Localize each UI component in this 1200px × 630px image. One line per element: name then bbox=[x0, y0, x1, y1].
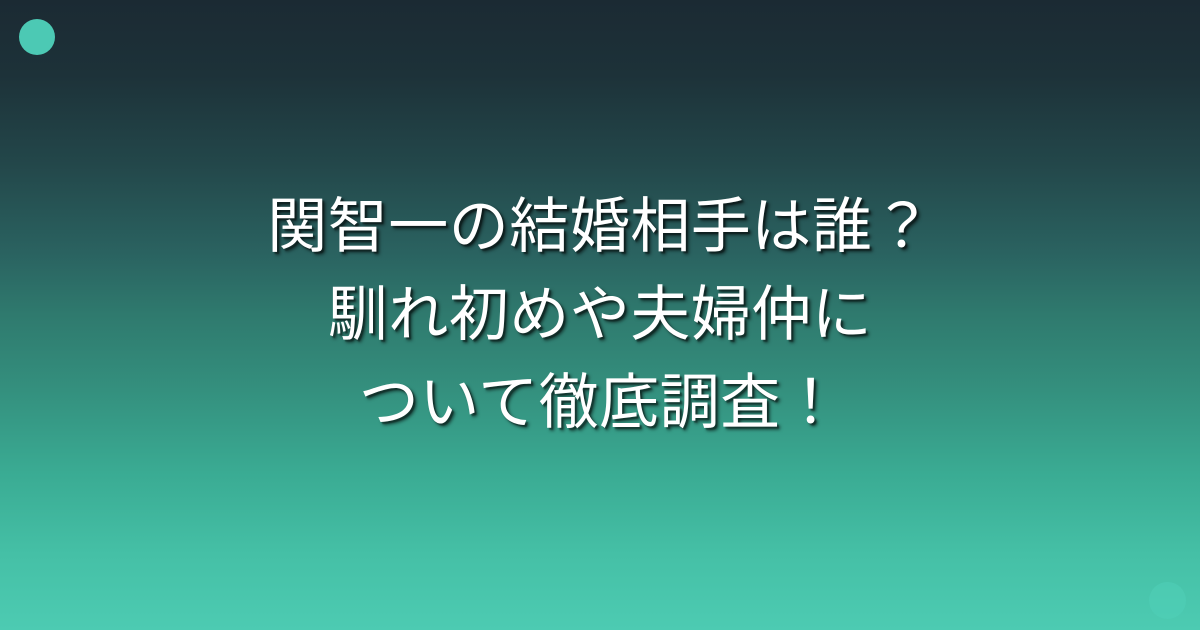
page-title: 関智一の結婚相手は誰？ 馴れ初めや夫婦仲に ついて徹底調査！ bbox=[60, 183, 1140, 447]
title-block: 関智一の結婚相手は誰？ 馴れ初めや夫婦仲に ついて徹底調査！ bbox=[0, 0, 1200, 630]
thumbnail-card: 関智一の結婚相手は誰？ 馴れ初めや夫婦仲に ついて徹底調査！ bbox=[0, 0, 1200, 630]
